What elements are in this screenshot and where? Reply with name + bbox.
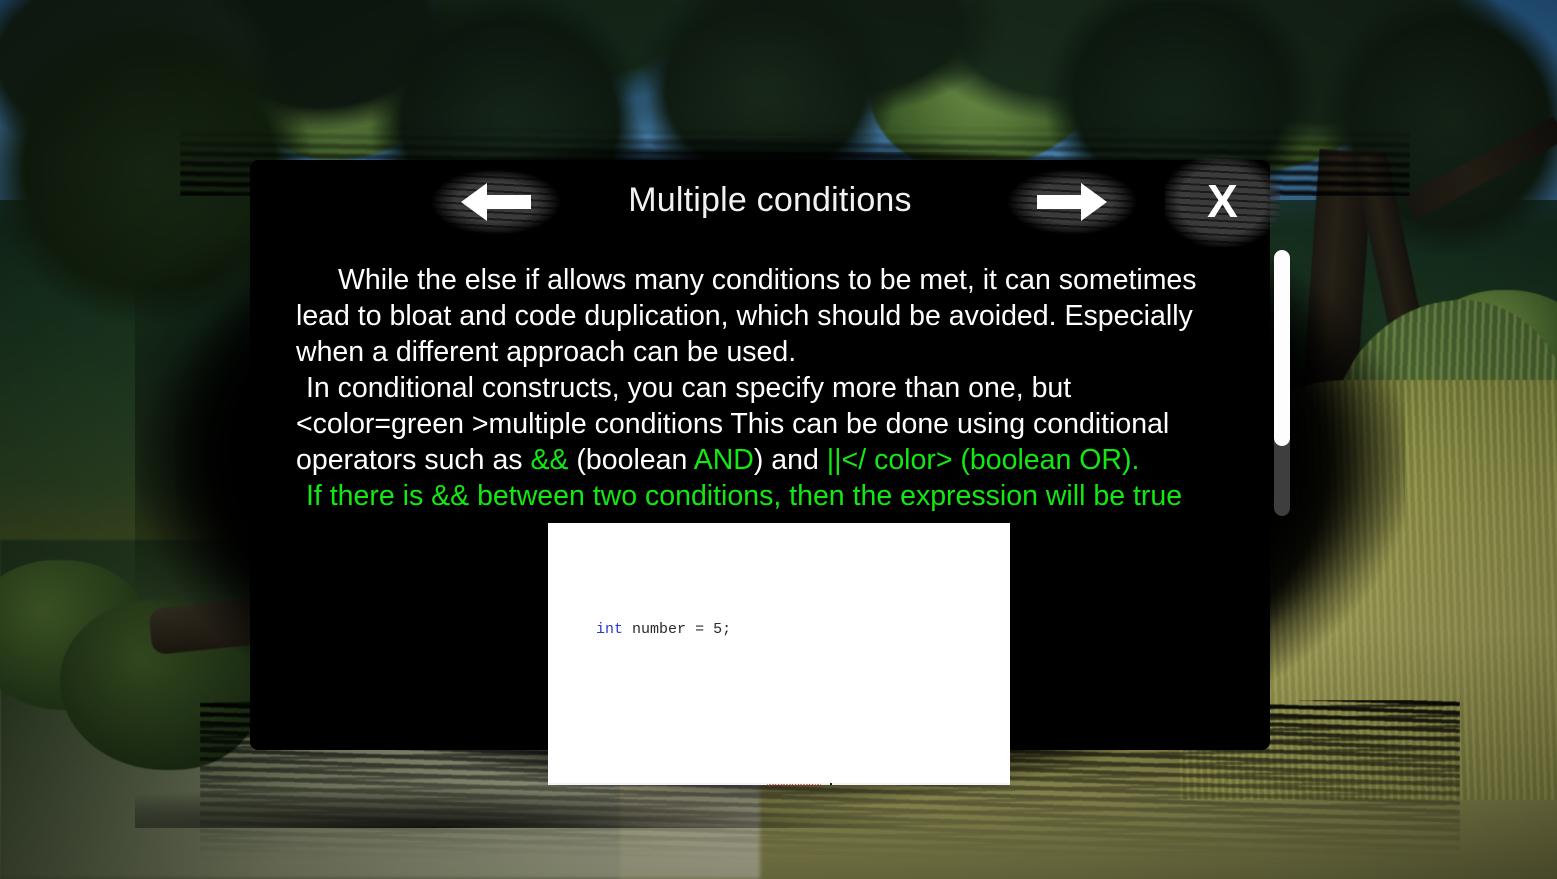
keyword-if: if	[596, 784, 614, 785]
code-line-active[interactable]: if (number >= 4 && number )	[548, 783, 1010, 785]
boolean-open: (boolean	[569, 444, 694, 476]
scrollbar-thumb[interactable]	[1274, 250, 1290, 446]
paren-close: )	[832, 784, 841, 785]
operators-prefix: operators such as	[296, 444, 530, 476]
literal-four: 4	[722, 784, 731, 785]
vertical-scrollbar[interactable]	[1274, 250, 1290, 516]
identifier-number: number	[632, 784, 686, 785]
game-screen: Multiple conditions X While the else if …	[0, 0, 1557, 879]
close-button[interactable]: X	[1165, 155, 1280, 247]
literal-five: 5;	[713, 621, 731, 638]
paragraph-2-line-2-text: <color=green >multiple conditions This c…	[296, 408, 1169, 440]
code-example-panel: int number = 5; if (number >= 4 && numbe…	[548, 523, 1010, 785]
dialog-header: Multiple conditions X	[135, 160, 1405, 248]
next-button[interactable]	[1007, 166, 1137, 238]
identifier-number: number	[632, 621, 686, 638]
code-line: int number = 5;	[548, 620, 1010, 640]
operator-and: &&	[740, 784, 758, 785]
arrow-right-icon	[1033, 181, 1111, 223]
arrow-left-icon	[457, 181, 535, 223]
and-operator-symbol: &&	[530, 444, 568, 476]
lesson-paragraph-2-line-1: In conditional constructs, you can speci…	[296, 370, 1244, 406]
code-line-blank	[548, 702, 1010, 722]
paragraph-2-line-1-text: In conditional constructs, you can speci…	[306, 372, 1071, 404]
and-word: AND	[694, 444, 754, 476]
previous-button[interactable]	[431, 166, 561, 238]
paren-open: (	[623, 784, 632, 785]
lesson-paragraph-3: If there is && between two conditions, t…	[296, 478, 1244, 514]
boolean-join: ) and	[754, 444, 827, 476]
or-operator-tail: ||</ color> (boolean OR).	[827, 444, 1140, 476]
operator-equals: =	[695, 621, 704, 638]
lesson-paragraph-1: While the else if allows many conditions…	[296, 262, 1244, 370]
selection-highlight	[821, 784, 830, 785]
close-icon: X	[1207, 178, 1238, 224]
lesson-paragraph-2-line-2: <color=green >multiple conditions This c…	[296, 406, 1244, 442]
lesson-paragraph-2-line-3: operators such as && (boolean AND) and |…	[296, 442, 1244, 478]
identifier-number-error: number	[767, 784, 821, 785]
code-block: int number = 5; if (number >= 4 && numbe…	[548, 523, 1010, 785]
lesson-text: While the else if allows many conditions…	[296, 262, 1244, 514]
operator-gte: >=	[695, 784, 713, 785]
paragraph-3-text: If there is && between two conditions, t…	[306, 480, 1182, 512]
paragraph-1-text: While the else if allows many conditions…	[296, 264, 1197, 368]
keyword-int: int	[596, 621, 623, 638]
